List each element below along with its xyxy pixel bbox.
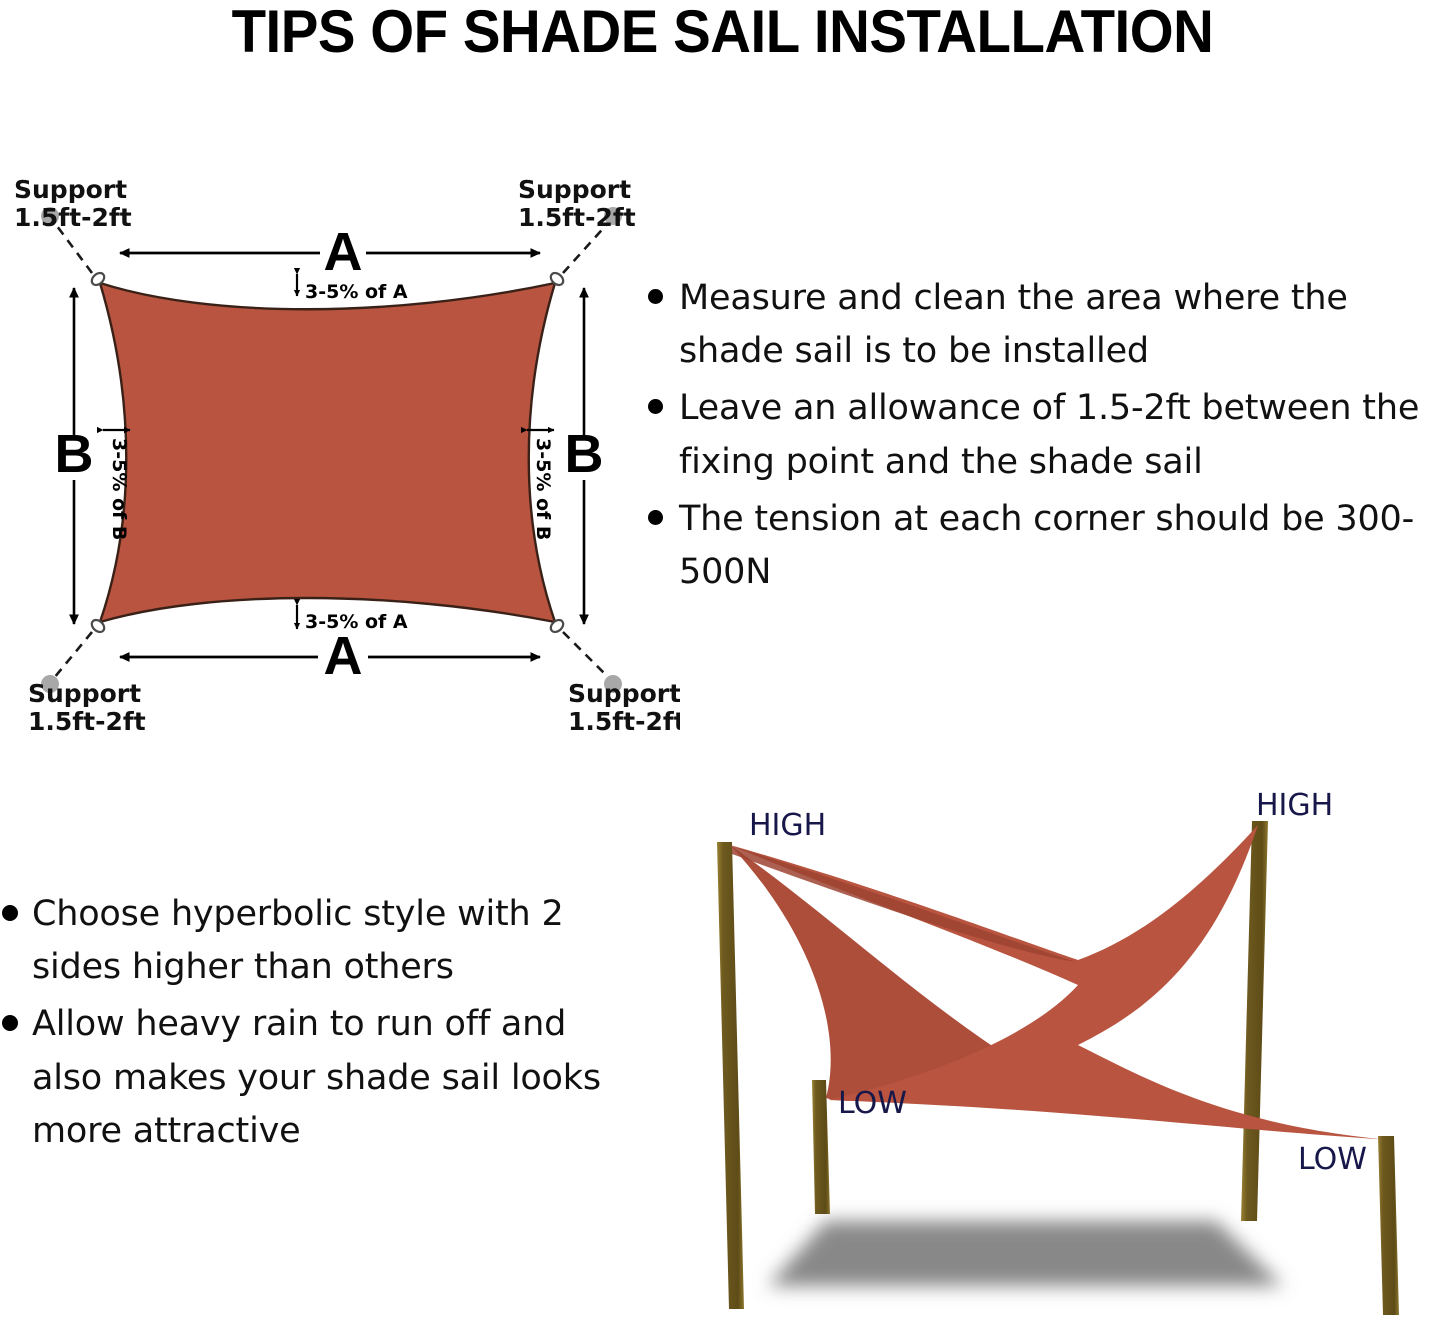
post-label-front-left-low: LOW — [838, 1086, 907, 1121]
bullet-dot-icon — [2, 1015, 18, 1031]
support-label-top-left-title: Support — [14, 175, 127, 204]
list-item: The tension at each corner should be 300… — [648, 493, 1445, 599]
dimension-label-top-a: A — [324, 222, 363, 282]
dimension-label-left-b: B — [55, 424, 94, 484]
post-label-front-right-low: LOW — [1298, 1142, 1367, 1177]
dimension-label-right-b: B — [565, 424, 604, 484]
support-label-bottom-right-range: 1.5ft-2ft — [568, 707, 680, 736]
sail-shape — [100, 283, 555, 622]
rectangular-sail-diagram: A A B B 3-5% of A — [0, 150, 680, 750]
tip-text: Measure and clean the area where the sha… — [679, 272, 1445, 378]
tip-text: Choose hyperbolic style with 2 sides hig… — [32, 888, 622, 994]
tips-list-left: Choose hyperbolic style with 2 sides hig… — [2, 888, 622, 1162]
support-label-top-left-range: 1.5ft-2ft — [14, 203, 132, 232]
list-item: Choose hyperbolic style with 2 sides hig… — [2, 888, 622, 994]
support-label-bottom-left-title: Support — [28, 679, 141, 708]
tip-text: Leave an allowance of 1.5-2ft between th… — [679, 382, 1445, 488]
bullet-dot-icon — [2, 905, 18, 921]
list-item: Allow heavy rain to run off and also mak… — [2, 998, 622, 1158]
tolerance-label-top: 3-5% of A — [305, 281, 408, 303]
hyperbolic-sail-diagram: HIGH HIGH LOW LOW — [648, 780, 1445, 1319]
tips-list-right: Measure and clean the area where the sha… — [648, 272, 1445, 603]
ground-shadow — [768, 1221, 1283, 1286]
post-left-high — [717, 842, 744, 1309]
support-label-bottom-left-range: 1.5ft-2ft — [28, 707, 146, 736]
tolerance-label-left: 3-5% of B — [108, 438, 130, 540]
post-right-high — [1241, 821, 1268, 1221]
tip-text: The tension at each corner should be 300… — [679, 493, 1445, 599]
support-label-top-right-range: 1.5ft-2ft — [518, 203, 636, 232]
support-label-bottom-right-title: Support — [568, 679, 680, 708]
tolerance-label-right: 3-5% of B — [532, 438, 554, 540]
bullet-dot-icon — [648, 510, 663, 525]
post-front-left-low — [812, 1080, 830, 1214]
bullet-dot-icon — [648, 289, 663, 304]
list-item: Leave an allowance of 1.5-2ft between th… — [648, 382, 1445, 488]
support-label-top-right-title: Support — [518, 175, 631, 204]
tip-text: Allow heavy rain to run off and also mak… — [32, 998, 622, 1158]
page-title: TIPS OF SHADE SAIL INSTALLATION — [43, 2, 1401, 62]
dimension-label-bottom-a: A — [324, 626, 363, 686]
post-label-left-high: HIGH — [749, 808, 826, 843]
bullet-dot-icon — [648, 399, 663, 414]
post-label-right-high: HIGH — [1256, 788, 1333, 823]
tolerance-label-bottom: 3-5% of A — [305, 611, 408, 633]
infographic-page: TIPS OF SHADE SAIL INSTALLATION — [0, 0, 1445, 1319]
list-item: Measure and clean the area where the sha… — [648, 272, 1445, 378]
post-front-right-low — [1378, 1136, 1399, 1315]
